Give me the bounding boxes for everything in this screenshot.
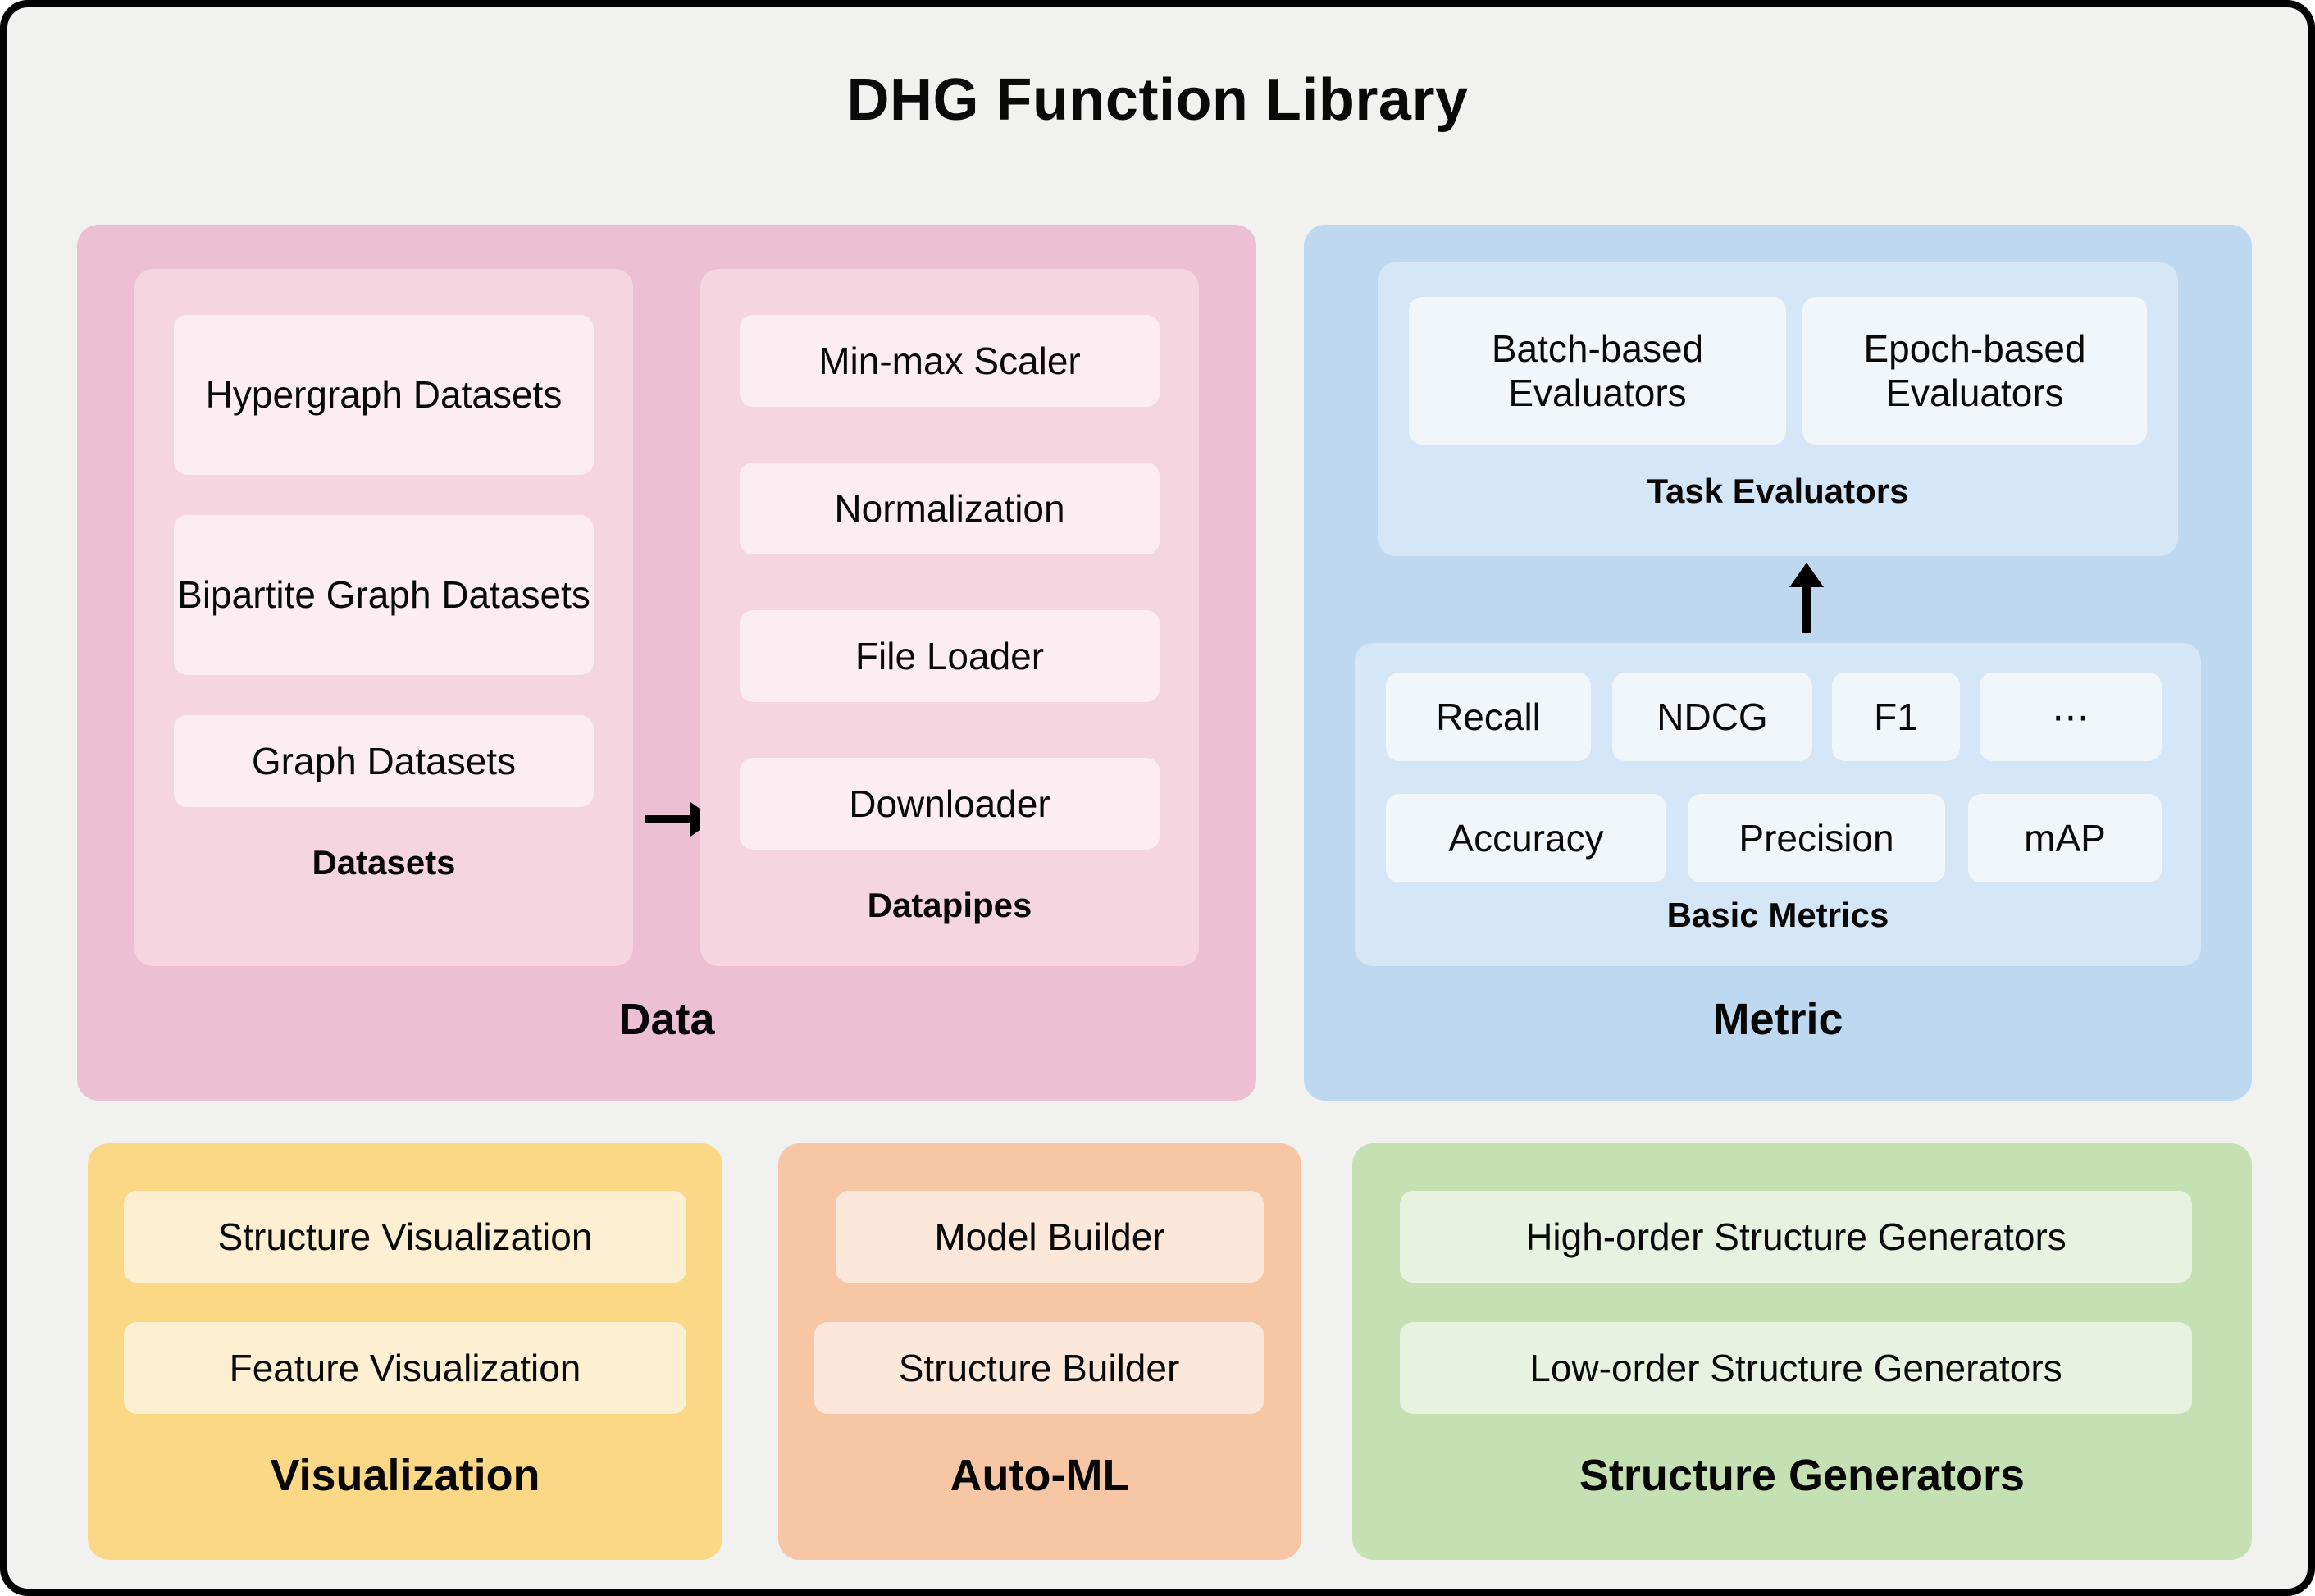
panel-title-structure-generators: Structure Generators	[1352, 1450, 2252, 1501]
chip-feature-visualization[interactable]: Feature Visualization	[124, 1322, 686, 1414]
subpanel-task-evaluators: Batch-based Evaluators Epoch-based Evalu…	[1378, 262, 2178, 556]
panel-title-visualization: Visualization	[88, 1450, 722, 1501]
subpanel-basic-metrics: Recall NDCG F1 ⋯ Accuracy Precision mAP …	[1355, 643, 2201, 966]
panel-title-metric: Metric	[1304, 994, 2252, 1045]
chip-high-order-structure-generators[interactable]: High-order Structure Generators	[1400, 1191, 2192, 1283]
chip-structure-builder[interactable]: Structure Builder	[814, 1322, 1264, 1414]
chip-structure-visualization[interactable]: Structure Visualization	[124, 1191, 686, 1283]
panel-visualization: Structure Visualization Feature Visualiz…	[88, 1143, 722, 1560]
chip-graph-datasets[interactable]: Graph Datasets	[174, 715, 594, 807]
panel-metric: Batch-based Evaluators Epoch-based Evalu…	[1304, 225, 2252, 1101]
chip-model-builder[interactable]: Model Builder	[836, 1191, 1264, 1283]
up-arrow-icon	[1778, 561, 1835, 639]
chip-min-max-scaler[interactable]: Min-max Scaler	[740, 315, 1160, 407]
chip-metric-recall[interactable]: Recall	[1386, 673, 1591, 761]
subpanel-title-datasets: Datasets	[134, 843, 633, 882]
subpanel-title-datapipes: Datapipes	[700, 886, 1199, 925]
panel-title-automl: Auto-ML	[778, 1450, 1301, 1501]
subpanel-datapipes: Min-max Scaler Normalization File Loader…	[700, 269, 1199, 966]
chip-downloader[interactable]: Downloader	[740, 758, 1160, 850]
chip-low-order-structure-generators[interactable]: Low-order Structure Generators	[1400, 1322, 2192, 1414]
chip-hypergraph-datasets[interactable]: Hypergraph Datasets	[174, 315, 594, 475]
chip-file-loader[interactable]: File Loader	[740, 610, 1160, 702]
subpanel-title-task-evaluators: Task Evaluators	[1378, 472, 2178, 511]
chip-metric-f1[interactable]: F1	[1832, 673, 1960, 761]
panel-title-data: Data	[77, 994, 1256, 1045]
chip-metric-map[interactable]: mAP	[1968, 794, 2162, 882]
chip-metric-ndcg[interactable]: NDCG	[1612, 673, 1812, 761]
subpanel-datasets: Hypergraph Datasets Bipartite Graph Data…	[134, 269, 633, 966]
chip-metric-precision[interactable]: Precision	[1688, 794, 1945, 882]
chip-metric-accuracy[interactable]: Accuracy	[1386, 794, 1666, 882]
chip-normalization[interactable]: Normalization	[740, 463, 1160, 554]
subpanel-title-basic-metrics: Basic Metrics	[1355, 896, 2201, 935]
chip-bipartite-graph-datasets[interactable]: Bipartite Graph Datasets	[174, 515, 594, 675]
diagram-canvas: DHG Function Library Hypergraph Datasets…	[0, 0, 2315, 1596]
panel-automl: Model Builder Structure Builder Auto-ML	[778, 1143, 1301, 1560]
panel-data: Hypergraph Datasets Bipartite Graph Data…	[77, 225, 1256, 1101]
panel-structure-generators: High-order Structure Generators Low-orde…	[1352, 1143, 2252, 1560]
page-title: DHG Function Library	[7, 66, 2308, 134]
chip-epoch-based-evaluators[interactable]: Epoch-based Evaluators	[1802, 297, 2147, 445]
chip-metric-ellipsis[interactable]: ⋯	[1980, 673, 2162, 761]
chip-batch-based-evaluators[interactable]: Batch-based Evaluators	[1409, 297, 1786, 445]
